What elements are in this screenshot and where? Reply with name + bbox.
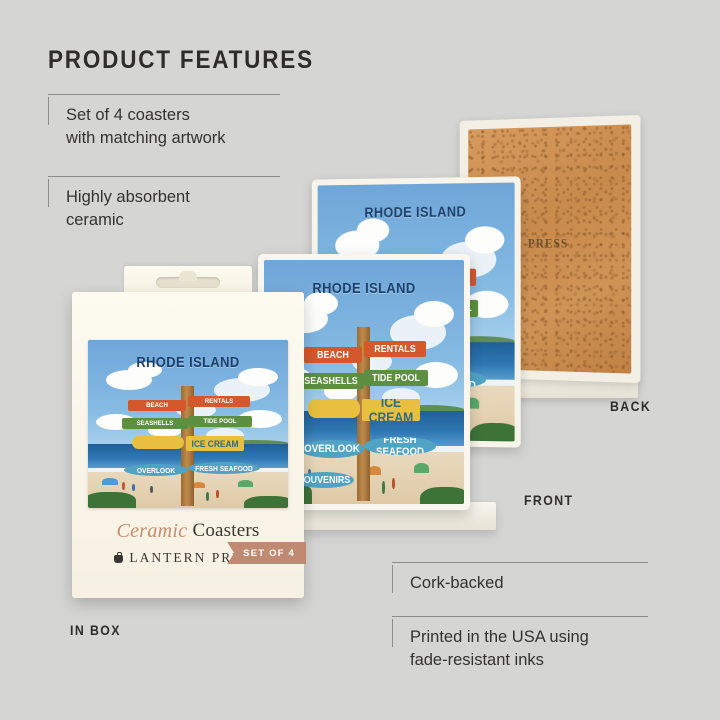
sign-label: ICE CREAM	[189, 439, 241, 449]
brand-serif-word: Coasters	[187, 520, 259, 541]
dune-grass	[470, 422, 514, 441]
sign-label: SEASHELLS	[301, 376, 360, 387]
sign-rentals: RENTALS	[364, 341, 426, 357]
sign-seashells: SEASHELLS	[298, 373, 364, 389]
feature-text: Set of 4 coasters with matching artwork	[49, 95, 226, 150]
artwork-title: RHODE ISLAND	[102, 354, 274, 371]
sign-ice-cream: ICE CREAM	[186, 436, 244, 451]
sign-label: RENTALS	[367, 344, 423, 355]
lantern-icon	[114, 552, 123, 564]
caption-in-box: IN BOX	[70, 622, 121, 638]
sign-fresh-seafood: FRESH SEAFOOD	[364, 437, 436, 454]
package-hanger-tab	[124, 266, 252, 294]
sign-label: BEACH	[131, 402, 183, 409]
sign-fresh-seafood: FRESH SEAFOOD	[188, 462, 260, 474]
sign-seashells: SEASHELLS	[122, 418, 188, 429]
sign-label: TIDE POOL	[191, 418, 249, 425]
sign-tide-pool: TIDE POOL	[364, 370, 428, 386]
sign-label: FRESH SEAFOOD	[192, 464, 257, 473]
brand-script-word: Ceramic	[116, 520, 187, 542]
feature-cork-backed: Cork-backed	[392, 562, 648, 595]
sign-rentals: RENTALS	[188, 396, 250, 407]
beach-umbrella	[102, 478, 118, 485]
cork-imprint: PRESS	[528, 237, 569, 252]
caption-front: FRONT	[524, 492, 573, 508]
feature-text: Printed in the USA using fade-resistant …	[393, 617, 589, 672]
beach-figure	[132, 484, 135, 491]
sign-label: OVERLOOK	[127, 466, 185, 475]
package-artwork: BEACHRENTALSSEASHELLSTIDE POOLICE CREAMO…	[88, 340, 288, 508]
product-feature-panel: PRODUCT FEATURES Set of 4 coasters with …	[0, 0, 720, 720]
feature-printed-usa: Printed in the USA using fade-resistant …	[392, 616, 648, 672]
artwork-title: RHODE ISLAND	[331, 204, 500, 222]
beach-umbrella	[414, 463, 429, 473]
cloud	[414, 301, 454, 327]
sign-beach: BEACH	[128, 400, 186, 411]
sign-label: TIDE POOL	[367, 373, 425, 384]
sign-label: FRESH SEAFOOD	[368, 437, 433, 454]
sign-label: OVERLOOK	[303, 443, 361, 455]
beach-figure	[392, 478, 395, 490]
feature-text: Highly absorbent ceramic	[49, 177, 190, 232]
beach-figure	[206, 492, 209, 501]
sign-ice-cream: ICE CREAM	[362, 399, 420, 421]
dune-grass	[420, 487, 464, 504]
feature-text: Cork-backed	[393, 563, 504, 595]
set-of-4-badge: SET OF 4	[227, 542, 306, 564]
beach-umbrella	[238, 480, 253, 487]
sign-label: ICE CREAM	[365, 399, 417, 421]
beach-figure	[382, 481, 385, 494]
sign-overlook: OVERLOOK	[124, 464, 188, 476]
beach-figure	[216, 490, 219, 498]
sign-label: RENTALS	[191, 398, 247, 405]
sign-label: BEACH	[307, 350, 359, 361]
sign-label: SEASHELLS	[125, 420, 184, 427]
dune-grass	[244, 496, 288, 508]
feature-absorbent: Highly absorbent ceramic	[48, 176, 280, 232]
sign-beach: BEACH	[304, 347, 362, 363]
sign-arm	[308, 399, 360, 418]
sign-arm	[132, 436, 184, 449]
hanger-slot	[156, 277, 220, 288]
beach-figure	[150, 486, 153, 493]
page-title: PRODUCT FEATURES	[48, 46, 314, 75]
beach-figure	[122, 482, 125, 490]
sign-tide-pool: TIDE POOL	[188, 416, 252, 427]
feature-set-of-4: Set of 4 coasters with matching artwork	[48, 94, 280, 150]
cloud	[465, 226, 505, 254]
dune-grass	[88, 492, 136, 508]
caption-back: BACK	[610, 398, 651, 414]
product-package: BEACHRENTALSSEASHELLSTIDE POOLICE CREAMO…	[72, 292, 304, 598]
sign-overlook: OVERLOOK	[300, 440, 364, 457]
sign-label: SOUVENIRS	[297, 475, 351, 486]
brand-title: CeramicCoasters	[116, 520, 259, 543]
